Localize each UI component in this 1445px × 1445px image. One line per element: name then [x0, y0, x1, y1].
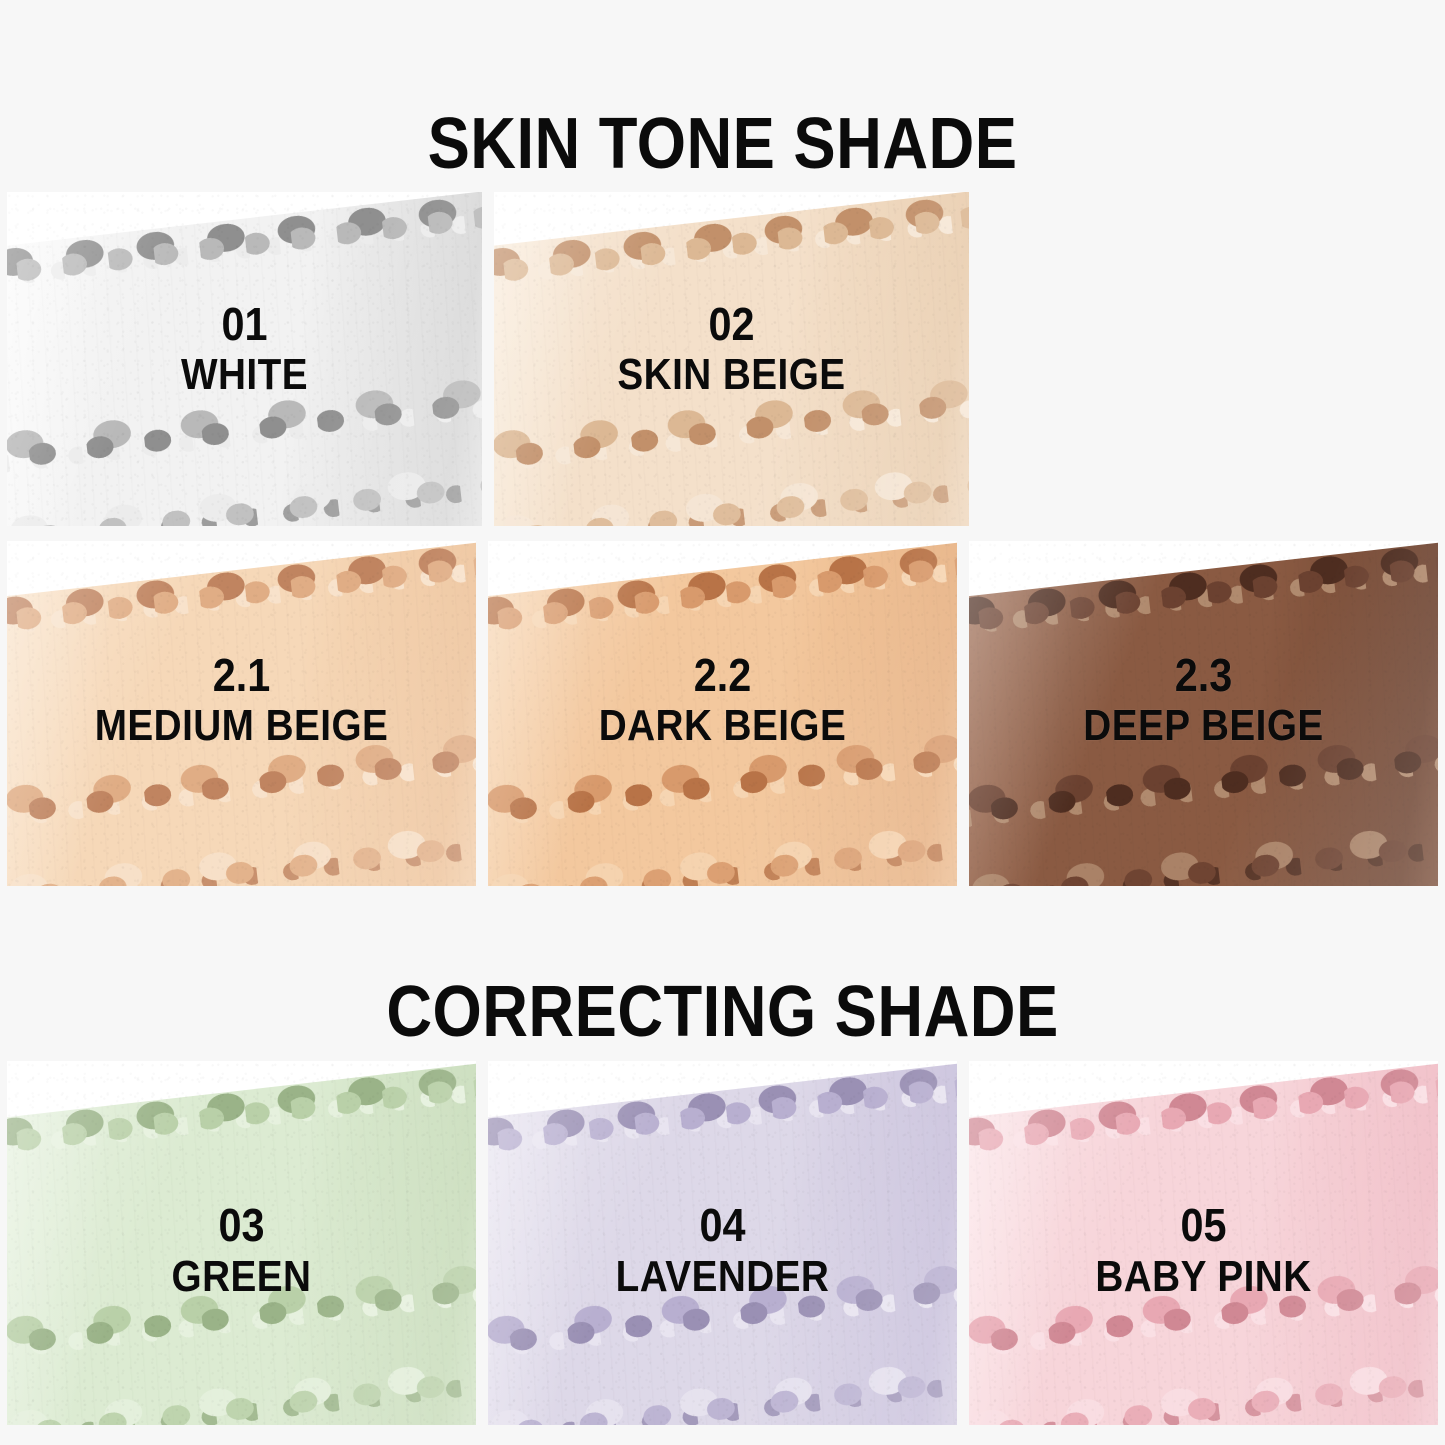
swatch-name: DEEP BEIGE — [997, 703, 1410, 749]
swatch-name: GREEN — [35, 1253, 448, 1299]
swatch-row-skin-tone-1: 01WHITE02SKIN BEIGE — [7, 192, 1438, 526]
swatch-tile[interactable]: 2.3DEEP BEIGE — [969, 541, 1438, 886]
swatch-label: 2.3DEEP BEIGE — [969, 650, 1438, 748]
shade-chart-page: SKIN TONE SHADE 01WHITE02SKIN BEIGE 2.1M… — [0, 0, 1445, 1445]
swatch-tile[interactable]: 04LAVENDER — [488, 1061, 957, 1425]
swatch-name: SKIN BEIGE — [523, 352, 941, 398]
swatch-label: 03GREEN — [7, 1201, 476, 1299]
swatch-tile[interactable]: 2.1MEDIUM BEIGE — [7, 541, 476, 886]
swatch-tile[interactable]: 05BABY PINK — [969, 1061, 1438, 1425]
swatch-name: WHITE — [36, 352, 454, 398]
swatch-code: 2.1 — [30, 650, 452, 698]
swatch-label: 05BABY PINK — [969, 1201, 1438, 1299]
swatch-name: LAVENDER — [516, 1253, 929, 1299]
swatch-code: 2.2 — [511, 650, 933, 698]
swatch-label: 02SKIN BEIGE — [494, 300, 969, 398]
swatch-tile[interactable]: 2.2DARK BEIGE — [488, 541, 957, 886]
swatch-code: 02 — [518, 300, 946, 348]
swatch-label: 01WHITE — [7, 300, 482, 398]
swatch-tile[interactable]: 02SKIN BEIGE — [494, 192, 969, 526]
swatch-code: 01 — [31, 300, 459, 348]
swatch-name: BABY PINK — [997, 1253, 1410, 1299]
swatch-label: 04LAVENDER — [488, 1201, 957, 1299]
section-title-skin-tone: SKIN TONE SHADE — [87, 108, 1359, 180]
swatch-name: MEDIUM BEIGE — [35, 703, 448, 749]
section-title-correcting: CORRECTING SHADE — [87, 976, 1359, 1048]
swatch-label: 2.2DARK BEIGE — [488, 650, 957, 748]
swatch-name: DARK BEIGE — [516, 703, 929, 749]
swatch-code: 03 — [30, 1201, 452, 1249]
swatch-code: 2.3 — [992, 650, 1414, 698]
swatch-label: 2.1MEDIUM BEIGE — [7, 650, 476, 748]
swatch-row-skin-tone-2: 2.1MEDIUM BEIGE2.2DARK BEIGE2.3DEEP BEIG… — [7, 541, 1438, 886]
swatch-tile[interactable]: 03GREEN — [7, 1061, 476, 1425]
swatch-code: 05 — [992, 1201, 1414, 1249]
swatch-row-correcting-1: 03GREEN04LAVENDER05BABY PINK — [7, 1061, 1438, 1425]
swatch-tile[interactable]: 01WHITE — [7, 192, 482, 526]
swatch-code: 04 — [511, 1201, 933, 1249]
